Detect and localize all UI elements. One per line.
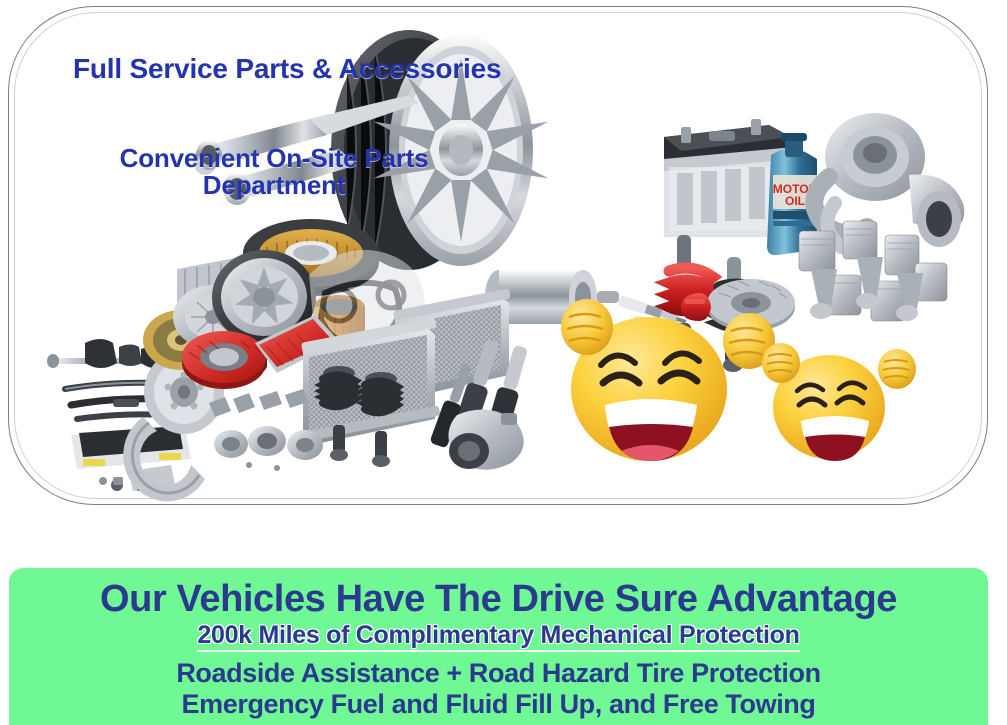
promo-title: Our Vehicles Have The Drive Sure Advanta…	[9, 578, 988, 620]
turbocharger	[814, 113, 964, 247]
promo-subtitle-underline: 200k Miles of Complimentary Mechanical P…	[197, 620, 799, 652]
fist-right-small	[878, 349, 916, 389]
headline-full-service: Full Service Parts & Accessories	[73, 53, 501, 85]
promo-benefit-line-2: Emergency Fuel and Fluid Fill Up, and Fr…	[9, 689, 988, 720]
svg-text:OIL: OIL	[785, 194, 805, 208]
ac-compressor	[448, 410, 523, 470]
promo-subtitle-wrapper: 200k Miles of Complimentary Mechanical P…	[9, 620, 988, 652]
fist-left-small	[762, 343, 800, 383]
laughing-emoji-small	[762, 343, 916, 461]
promo-benefit-line-1: Roadside Assistance + Road Hazard Tire P…	[9, 658, 988, 689]
headline-on-site-parts: Convenient On-Site Parts Department	[64, 145, 484, 200]
hero-panel: MOTOR OIL	[8, 6, 988, 505]
fist-left	[561, 299, 613, 355]
laughing-emoji-large	[561, 299, 775, 461]
red-cabin-air-filter-round	[182, 331, 266, 389]
promo-panel: Our Vehicles Have The Drive Sure Advanta…	[9, 568, 988, 725]
promo-subtitle: 200k Miles of Complimentary Mechanical P…	[197, 621, 799, 649]
